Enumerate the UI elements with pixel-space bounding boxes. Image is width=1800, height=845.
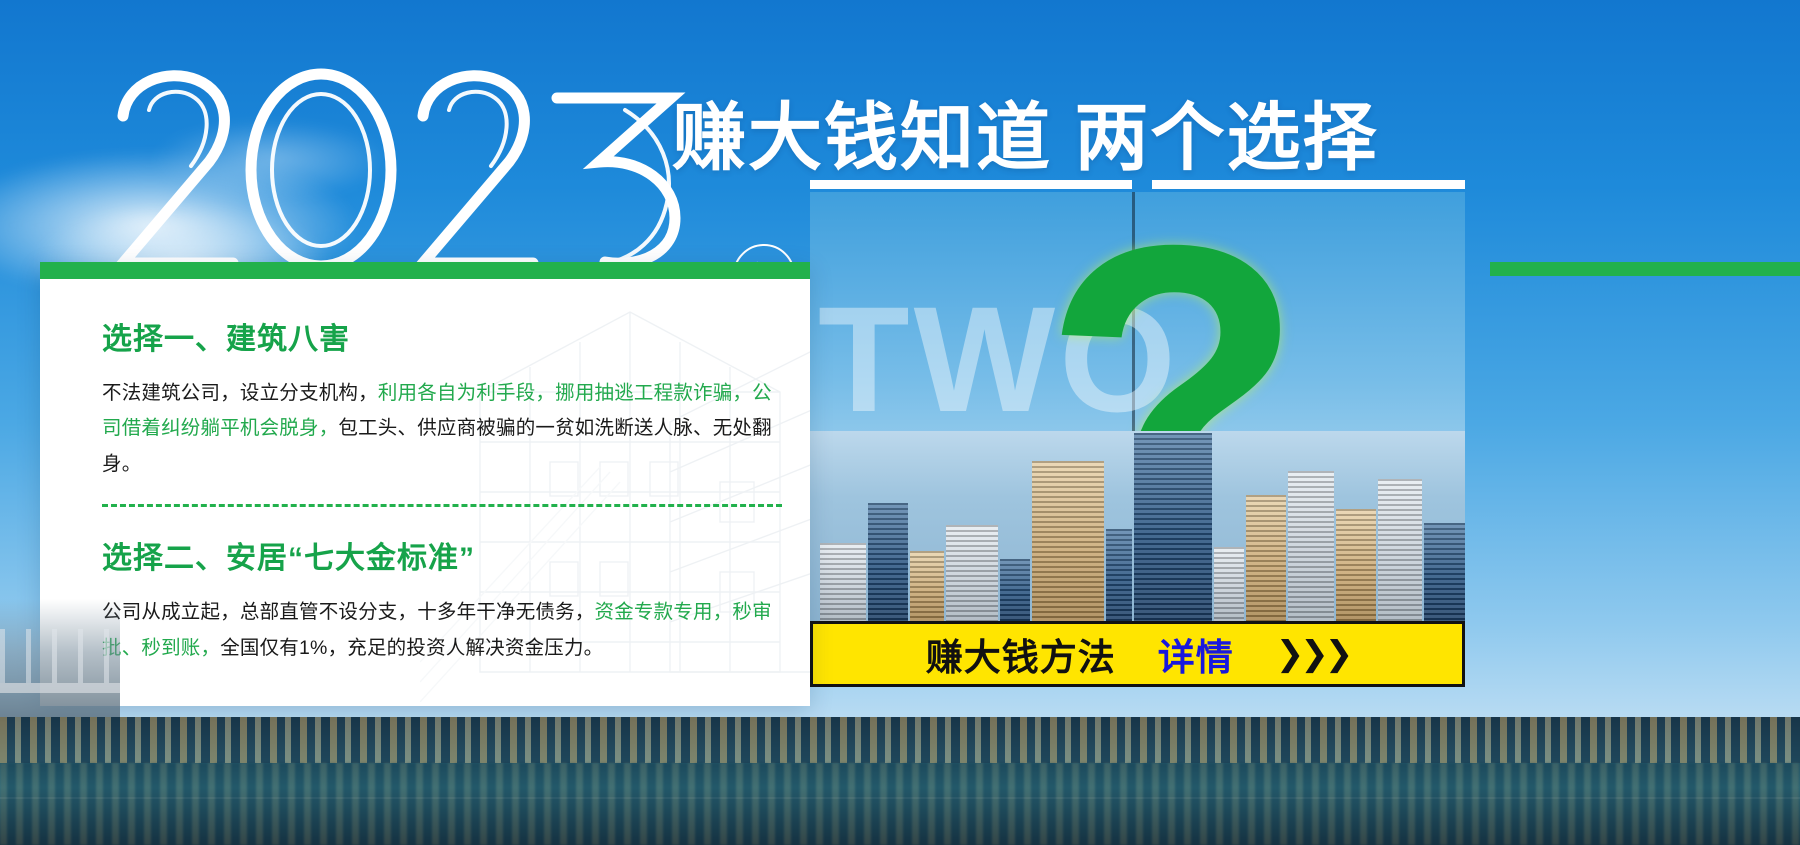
section-two-part-1: 公司从成立起，总部直管不设分支，十多年干净无债务， [102, 601, 595, 623]
bottom-city-strip [0, 717, 1800, 845]
cta-detail-link[interactable]: 详情 [1158, 627, 1234, 681]
card-section-one: 选择一、建筑八害 不法建筑公司，设立分支机构，利用各自为利手段，挪用抽逃工程款诈… [102, 314, 782, 482]
poster-stage: 年 赚大钱知道 两个选择 TWO CHOICE ? [0, 0, 1800, 845]
page-title: 赚大钱知道 两个选择 [672, 78, 1379, 185]
headline-rule-left [810, 180, 1132, 189]
right-green-edge [1490, 262, 1800, 276]
headline-rule-right [1152, 180, 1465, 189]
headline-rules [810, 176, 1465, 192]
city-skyline-photo [810, 431, 1465, 621]
cta-banner[interactable]: 赚大钱方法 详情 ❯❯❯ [810, 621, 1465, 687]
section-divider [102, 504, 782, 507]
year-block: 年 [105, 58, 725, 268]
bridge-structure [0, 599, 120, 717]
water-reflection-line [0, 797, 1800, 799]
right-panel: TWO CHOICE ? 赚大钱方法 详情 ❯❯❯ [810, 192, 1465, 687]
section-two-part-3: 全国仅有1%，充足的投资人解决资金压力。 [220, 637, 603, 659]
section-one-body: 不法建筑公司，设立分支机构，利用各自为利手段，挪用抽逃工程款诈骗，公司借着纠纷躺… [102, 376, 782, 482]
year-2023-outline [105, 58, 725, 273]
section-two-body: 公司从成立起，总部直管不设分支，十多年干净无债务，资金专款专用，秒审批、秒到账，… [102, 595, 782, 666]
chevron-right-icon: ❯❯❯ [1276, 634, 1349, 674]
info-card: 选择一、建筑八害 不法建筑公司，设立分支机构，利用各自为利手段，挪用抽逃工程款诈… [40, 262, 810, 706]
section-two-title: 选择二、安居“七大金标准” [102, 533, 782, 577]
section-one-part-1: 不法建筑公司，设立分支机构， [102, 382, 378, 404]
card-content: 选择一、建筑八害 不法建筑公司，设立分支机构，利用各自为利手段，挪用抽逃工程款诈… [102, 314, 782, 666]
cta-main-label: 赚大钱方法 [926, 627, 1116, 681]
section-one-title: 选择一、建筑八害 [102, 314, 782, 358]
card-section-two: 选择二、安居“七大金标准” 公司从成立起，总部直管不设分支，十多年干净无债务，资… [102, 533, 782, 666]
